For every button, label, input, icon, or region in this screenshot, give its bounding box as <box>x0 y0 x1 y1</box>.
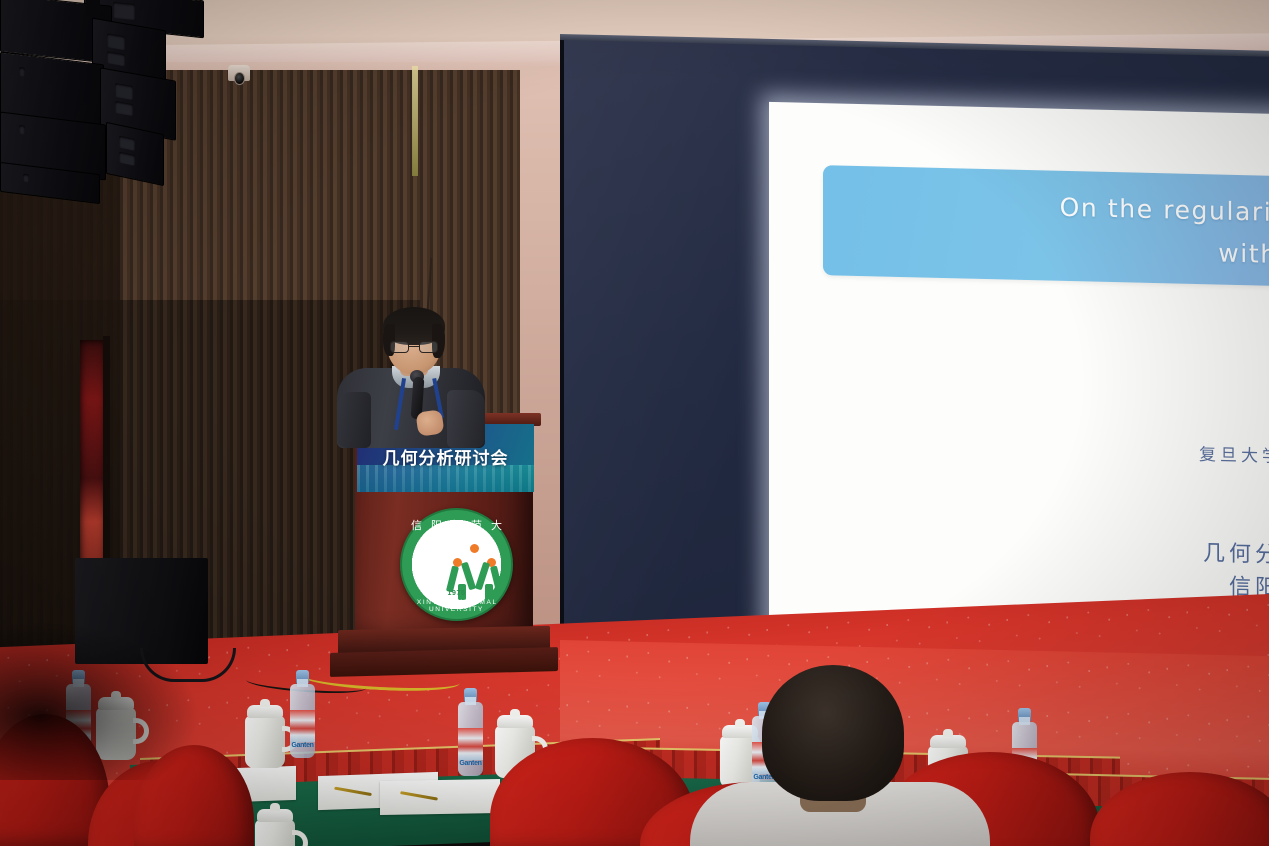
seal-english-name: XINYANG NORMAL UNIVERSITY <box>402 599 511 613</box>
speaker-rigging-bracket <box>86 0 100 16</box>
pen-mid <box>334 787 372 797</box>
water-bottle: Ganten <box>290 684 315 758</box>
shadow-bottom-left <box>0 620 200 780</box>
slide-title: On the regularity of with cen <box>823 165 1269 287</box>
mug-knob <box>270 803 280 811</box>
seal-dot-left <box>470 544 479 553</box>
bottle-label <box>458 728 483 760</box>
seal-chinese-name: 信阳师范大学 <box>402 517 511 549</box>
presenter-arm-left <box>337 392 371 448</box>
camera-lens-icon <box>234 72 245 85</box>
pen-right <box>400 791 438 801</box>
tea-mug <box>255 820 295 846</box>
mug-knob <box>260 699 270 707</box>
glasses-bridge <box>409 346 419 347</box>
bottle-label <box>290 710 315 742</box>
lens-right <box>419 341 438 353</box>
mug-knob <box>735 719 745 727</box>
lecture-hall-photo: On the regularity of with cen 复旦大学 几何分 信… <box>0 0 1269 846</box>
bottle-brand: Ganten <box>290 742 315 749</box>
eyeglasses-icon <box>390 341 438 354</box>
attendee-head <box>762 665 904 801</box>
bottle-neck <box>297 679 308 687</box>
slide-affiliation: 复旦大学 <box>769 430 1269 467</box>
led-display-wall: On the regularity of with cen 复旦大学 几何分 信… <box>560 40 1269 682</box>
lens-left <box>390 341 409 353</box>
bottle-neck <box>465 697 476 705</box>
tea-mug <box>245 716 285 768</box>
university-seal-icon: 信阳师范大学 1975 XINYANG NORMAL UNIVERSITY <box>400 508 513 621</box>
presentation-slide: On the regularity of with cen 复旦大学 几何分 信… <box>769 102 1269 674</box>
slide-event-lines: 几何分 信阳 <box>769 527 1269 605</box>
bottle-neck <box>1019 717 1030 725</box>
mug-knob <box>510 709 520 717</box>
mug-knob <box>943 729 953 737</box>
presenter-arm-right <box>447 390 485 448</box>
bottle-brand: Ganten <box>458 760 483 767</box>
slide-title-band: On the regularity of with cen <box>823 165 1269 287</box>
seal-founding-year: 1975 <box>402 590 511 597</box>
water-bottle: Ganten <box>458 702 483 776</box>
wall-slot-light <box>412 66 418 176</box>
note-paper-right <box>380 779 500 815</box>
